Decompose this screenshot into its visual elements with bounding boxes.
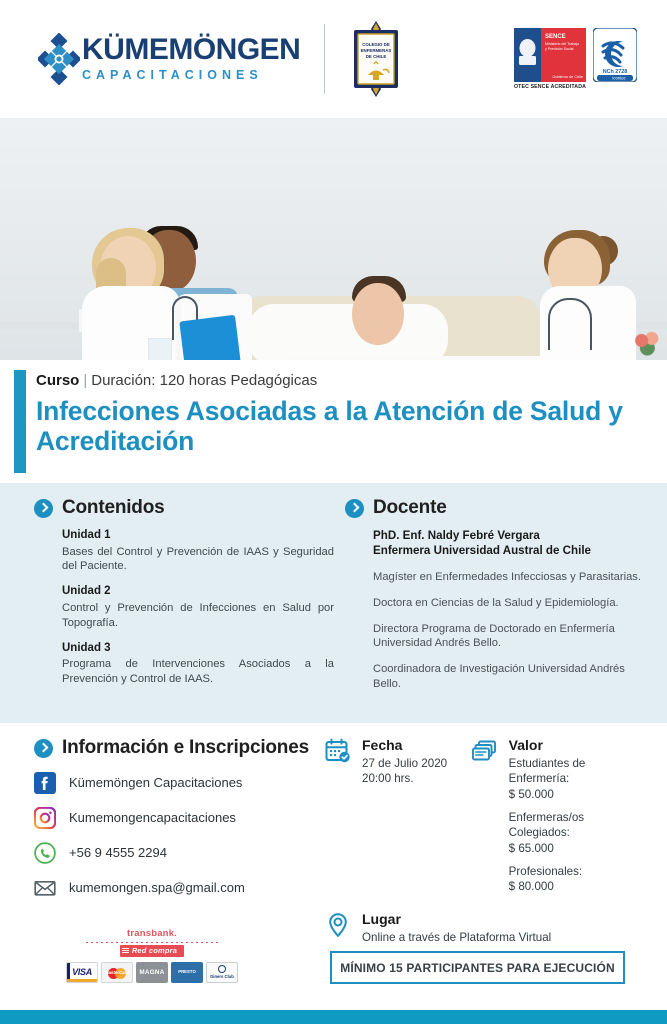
docente-section: Docente PhD. Enf. Naldy Febré Vergara En… — [345, 497, 645, 692]
teacher-credential: Magíster en Enfermedades Infecciosas y P… — [373, 570, 645, 585]
valor-tier-label: Estudiantes de Enfermería: — [509, 756, 625, 787]
redcompra-label: Red compra — [120, 945, 184, 957]
course-meta: Curso|Duración: 120 horas Pedagógicas — [36, 372, 647, 390]
cec-line3: DE CHILE — [366, 54, 387, 59]
lugar-heading: Lugar — [362, 911, 551, 928]
teacher-institution: Enfermera Universidad Austral de Chile — [373, 543, 645, 558]
whatsapp-icon — [34, 842, 56, 864]
photo-patient-head — [352, 283, 404, 345]
bottom-accent-bar — [0, 1010, 667, 1024]
header-divider — [324, 24, 325, 94]
lugar-value: Online a través de Plataforma Virtual — [362, 930, 551, 946]
contenidos-section: Contenidos Unidad 1 Bases del Control y … — [34, 497, 334, 697]
contact-value: Kumemongencapacitaciones — [69, 810, 236, 826]
teacher-credential: Directora Programa de Doctorado en Enfer… — [373, 622, 645, 652]
details-section: Fecha 27 de Julio 2020 20:00 hrs. — [325, 737, 625, 945]
teacher-credential: Coordinadora de Investigación Universida… — [373, 662, 645, 692]
unit-item: Unidad 2 Control y Prevención de Infecci… — [34, 584, 334, 630]
header: KÜMEMÖNGEN CAPACITACIONES COLEGIO DE ENF… — [0, 0, 667, 118]
mastercard-text: MasterCard — [105, 970, 129, 975]
docente-header: Docente — [345, 497, 645, 519]
visa-text: VISA — [72, 967, 92, 977]
title-accent-bar — [14, 370, 26, 473]
presto-text: PRESTO — [178, 970, 196, 975]
minimum-participants-notice: MÍNIMO 15 PARTICIPANTES PARA EJECUCIÓN — [330, 951, 625, 984]
contact-facebook[interactable]: Kümemöngen Capacitaciones — [34, 772, 334, 794]
contact-value: kumemongen.spa@gmail.com — [69, 880, 245, 896]
valor-tier-price: $ 50.000 — [509, 787, 625, 803]
contenidos-header: Contenidos — [34, 497, 334, 519]
fecha-block: Fecha 27 de Julio 2020 20:00 hrs. — [325, 737, 448, 895]
teacher-name: PhD. Enf. Naldy Febré Vergara — [373, 528, 645, 543]
sence-caption: OTEC SENCE ACREDITADA — [514, 84, 586, 90]
icontec-badge-icon: NCh 2728 Icontec — [593, 28, 637, 82]
unit-item: Unidad 3 Programa de Intervenciones Asoc… — [34, 641, 334, 687]
chevron-right-icon — [34, 499, 53, 518]
contact-email[interactable]: kumemongen.spa@gmail.com — [34, 877, 334, 899]
valor-block: Valor Estudiantes de Enfermería: $ 50.00… — [472, 737, 625, 895]
valor-heading: Valor — [509, 737, 625, 754]
contact-value: Kümemöngen Capacitaciones — [69, 775, 242, 791]
sence-gobierno: Gobierno de Chile — [552, 75, 583, 79]
brand-subtitle: CAPACITACIONES — [82, 68, 300, 83]
valor-tier-label: Enfermeras/os Colegiados: — [509, 810, 625, 841]
unit-description: Programa de Intervenciones Asociados a l… — [62, 657, 334, 687]
magna-card-icon: MAGNA — [136, 962, 168, 983]
photo-water-glass — [148, 338, 172, 360]
fecha-date: 27 de Julio 2020 — [362, 756, 447, 772]
unit-description: Control y Prevención de Infecciones en S… — [62, 601, 334, 631]
contact-whatsapp[interactable]: +56 9 4555 2294 — [34, 842, 334, 864]
sence-title: SENCE — [545, 34, 566, 40]
fecha-time: 20:00 hrs. — [362, 771, 447, 787]
chevron-right-icon — [345, 499, 364, 518]
sence-badge-icon: SENCE Ministerio del Trabajo y Previsión… — [514, 28, 586, 82]
valor-tier-label: Profesionales: — [509, 864, 625, 880]
docente-heading: Docente — [373, 497, 447, 519]
transbank-dotline — [86, 942, 218, 943]
icontec-brand: Icontec — [612, 76, 626, 81]
dinersclub-text: Diners Club — [210, 974, 234, 979]
cec-line1: COLEGIO DE — [363, 42, 391, 47]
teacher-details: PhD. Enf. Naldy Febré Vergara Enfermera … — [345, 528, 645, 692]
unit-name: Unidad 2 — [62, 584, 334, 600]
contact-value: +56 9 4555 2294 — [69, 845, 167, 861]
contact-instagram[interactable]: Kumemongencapacitaciones — [34, 807, 334, 829]
facebook-icon — [34, 772, 56, 794]
title-band: Curso|Duración: 120 horas Pedagógicas In… — [0, 360, 667, 483]
photo-flowers — [632, 330, 664, 360]
tickets-icon — [472, 738, 498, 764]
minimum-participants-text: MÍNIMO 15 PARTICIPANTES PARA EJECUCIÓN — [340, 961, 615, 975]
fecha-heading: Fecha — [362, 737, 447, 754]
informacion-header: Información e Inscripciones — [34, 737, 334, 759]
sence-ministry-2: y Previsión Social — [545, 47, 574, 51]
curso-separator: | — [83, 372, 87, 389]
dinersclub-card-icon: Diners Club — [206, 962, 238, 983]
lugar-block: Lugar Online a través de Plataforma Virt… — [325, 911, 625, 945]
teacher-credential: Doctora en Ciencias de la Salud y Epidem… — [373, 596, 645, 611]
flyer-page: KÜMEMÖNGEN CAPACITACIONES COLEGIO DE ENF… — [0, 0, 667, 1024]
brand-name: KÜMEMÖNGEN — [82, 35, 300, 65]
calendar-check-icon — [325, 738, 351, 764]
location-pin-icon — [325, 912, 351, 938]
payment-methods: transbank. Red compra VISA MasterCard MA… — [52, 928, 252, 983]
sence-ministry-1: Ministerio del Trabajo — [545, 42, 579, 46]
content-band: Contenidos Unidad 1 Bases del Control y … — [0, 483, 667, 723]
curso-label: Curso — [36, 372, 79, 389]
unit-name: Unidad 1 — [62, 528, 334, 544]
email-icon — [34, 877, 56, 899]
valor-tier-price: $ 65.000 — [509, 841, 625, 857]
course-duration: Duración: 120 horas Pedagógicas — [91, 372, 317, 389]
page-title: Infecciones Asociadas a la Atención de S… — [36, 397, 647, 456]
chevron-right-icon — [34, 739, 53, 758]
informacion-heading: Información e Inscripciones — [62, 737, 309, 759]
diners-ring — [218, 965, 226, 973]
photo-clipboard — [179, 315, 240, 360]
card-logos: VISA MasterCard MAGNA PRESTO Diners Club — [66, 962, 238, 983]
photo-pillow — [248, 304, 448, 360]
informacion-section: Información e Inscripciones Kümemöngen C… — [34, 737, 334, 899]
colegio-enfermeras-logo-icon: COLEGIO DE ENFERMERAS DE CHILE — [347, 20, 405, 98]
kumemongen-cross-icon — [38, 33, 80, 85]
magna-text: MAGNA — [139, 969, 164, 976]
brand-logo: KÜMEMÖNGEN CAPACITACIONES — [38, 33, 300, 85]
valor-tier-price: $ 80.000 — [509, 879, 625, 895]
presto-card-icon: PRESTO — [171, 962, 203, 983]
certification-logos: SENCE Ministerio del Trabajo y Previsión… — [514, 28, 637, 90]
icontec-norm: NCh 2728 — [603, 69, 628, 75]
contenidos-heading: Contenidos — [62, 497, 165, 519]
transbank-label: transbank. — [127, 928, 177, 939]
photo-stethoscope — [548, 298, 592, 350]
sence-logo: SENCE Ministerio del Trabajo y Previsión… — [514, 28, 586, 90]
unit-item: Unidad 1 Bases del Control y Prevención … — [34, 528, 334, 574]
mastercard-card-icon: MasterCard — [101, 962, 133, 983]
cec-line2: ENFERMERAS — [361, 48, 392, 53]
unit-description: Bases del Control y Prevención de IAAS y… — [62, 545, 334, 575]
unit-name: Unidad 3 — [62, 641, 334, 657]
hero-photo — [0, 118, 667, 360]
instagram-icon — [34, 807, 56, 829]
visa-card-icon: VISA — [66, 962, 98, 983]
